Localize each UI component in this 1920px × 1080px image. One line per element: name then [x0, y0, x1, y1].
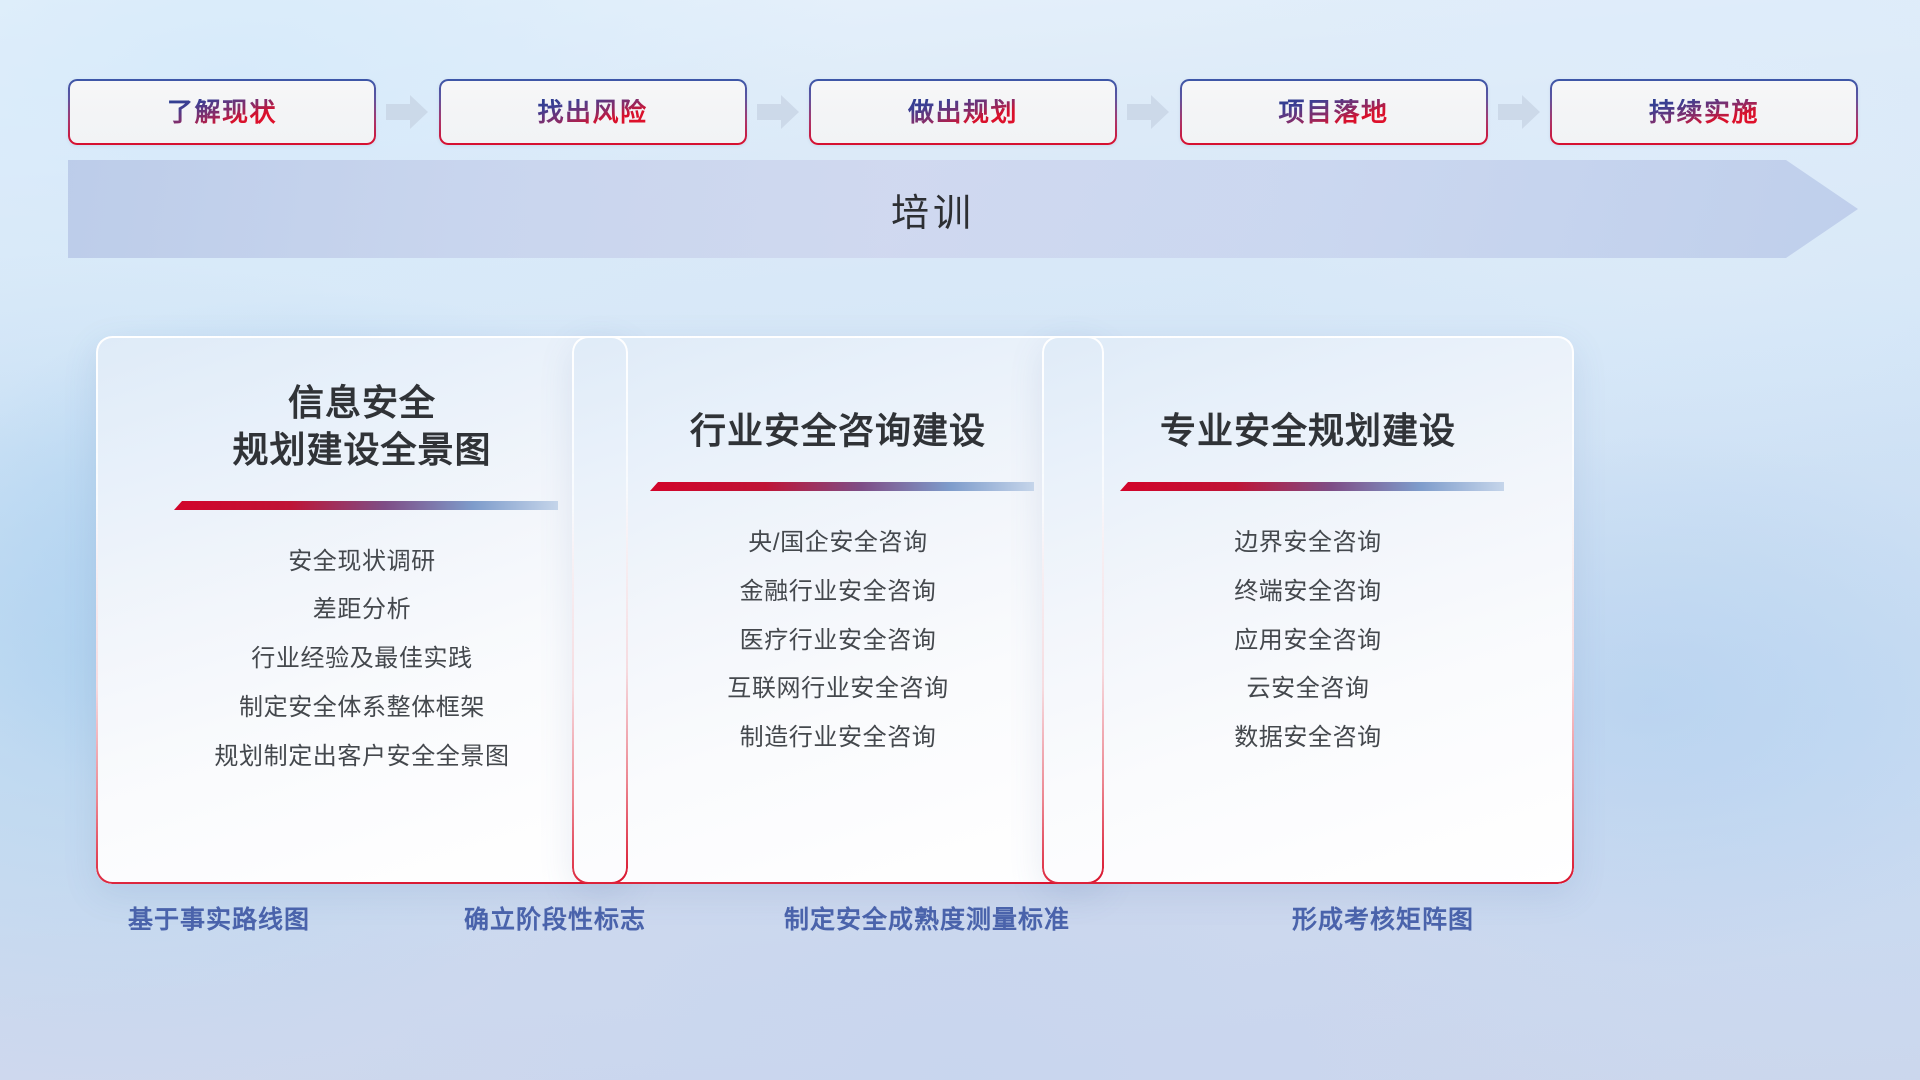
bottom-label: 形成考核矩阵图 — [1292, 900, 1474, 936]
process-step-label: 做出规划 — [908, 99, 1018, 125]
card-item-list: 央/国企安全咨询 金融行业安全咨询 医疗行业安全咨询 互联网行业安全咨询 制造行… — [606, 524, 1070, 758]
list-item: 边界安全咨询 — [1234, 524, 1382, 563]
right-arrow-icon — [1127, 95, 1169, 129]
bottom-label: 制定安全成熟度测量标准 — [784, 900, 1070, 936]
process-step-1[interactable]: 找出风险 — [439, 79, 747, 145]
process-step-label: 持续实施 — [1649, 99, 1759, 125]
list-item: 数据安全咨询 — [1234, 719, 1382, 758]
slide-canvas: 了解现状 找出风险 做出规划 项目落地 — [0, 0, 1920, 1080]
list-item: 央/国企安全咨询 — [748, 524, 927, 563]
list-item: 互联网行业安全咨询 — [727, 670, 948, 709]
card-divider — [1112, 481, 1504, 492]
list-item: 云安全咨询 — [1247, 670, 1370, 709]
bottom-label: 确立阶段性标志 — [464, 900, 646, 936]
card-group: 信息安全 规划建设全景图 — [0, 336, 1920, 884]
card-title: 行业安全咨询建设 — [690, 408, 986, 455]
card-industry-security-consulting[interactable]: 行业安全咨询建设 — [572, 336, 1104, 884]
list-item: 制造行业安全咨询 — [740, 719, 937, 758]
list-item: 应用安全咨询 — [1234, 622, 1382, 661]
bottom-label: 基于事实路线图 — [128, 900, 310, 936]
card-professional-security-planning[interactable]: 专业安全规划建设 — [1042, 336, 1574, 884]
process-step-label: 找出风险 — [537, 99, 647, 125]
bottom-label-row: 基于事实路线图 确立阶段性标志 制定安全成熟度测量标准 形成考核矩阵图 — [0, 900, 1920, 956]
process-step-row: 了解现状 找出风险 做出规划 项目落地 — [68, 78, 1858, 146]
list-item: 制定安全体系整体框架 — [239, 689, 485, 728]
process-step-2[interactable]: 做出规划 — [809, 79, 1117, 145]
list-item: 金融行业安全咨询 — [740, 573, 937, 612]
right-arrow-icon — [386, 95, 428, 129]
process-step-0[interactable]: 了解现状 — [68, 79, 376, 145]
card-item-list: 安全现状调研 差距分析 行业经验及最佳实践 制定安全体系整体框架 规划制定出客户… — [130, 543, 594, 777]
card-title: 信息安全 规划建设全景图 — [232, 380, 491, 474]
process-step-label: 项目落地 — [1278, 99, 1388, 125]
list-item: 差距分析 — [313, 591, 411, 630]
list-item: 安全现状调研 — [288, 543, 436, 582]
process-step-4[interactable]: 持续实施 — [1550, 79, 1858, 145]
process-step-3[interactable]: 项目落地 — [1180, 79, 1488, 145]
list-item: 医疗行业安全咨询 — [740, 622, 937, 661]
card-title: 专业安全规划建设 — [1160, 408, 1456, 455]
card-item-list: 边界安全咨询 终端安全咨询 应用安全咨询 云安全咨询 数据安全咨询 — [1076, 524, 1540, 758]
process-step-label: 了解现状 — [167, 99, 277, 125]
card-divider — [642, 481, 1034, 492]
banner-title: 培训 — [68, 160, 1858, 258]
right-arrow-icon — [1498, 95, 1540, 129]
card-information-security-blueprint[interactable]: 信息安全 规划建设全景图 — [96, 336, 628, 884]
card-divider — [166, 500, 558, 511]
list-item: 终端安全咨询 — [1234, 573, 1382, 612]
list-item: 规划制定出客户安全全景图 — [214, 738, 509, 777]
training-banner: 培训 — [68, 160, 1858, 258]
right-arrow-icon — [757, 95, 799, 129]
list-item: 行业经验及最佳实践 — [251, 640, 472, 679]
